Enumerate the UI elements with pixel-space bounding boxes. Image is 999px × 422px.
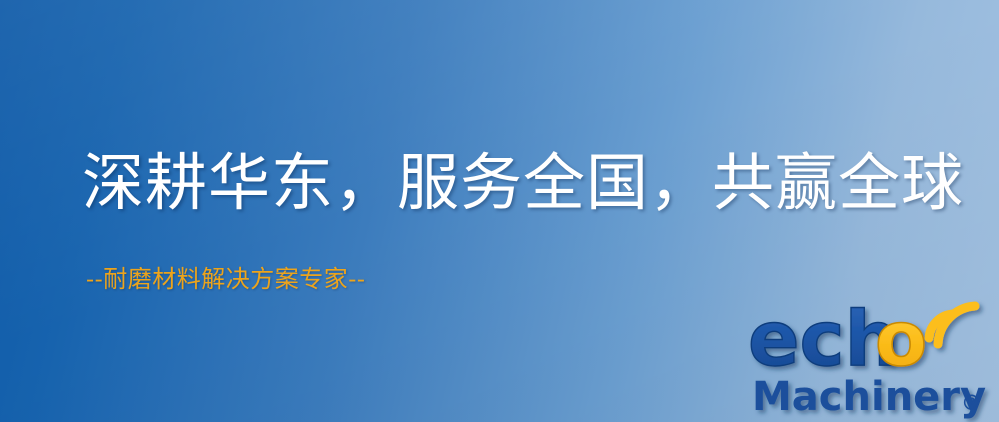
banner-subtitle: --耐磨材料解决方案专家-- — [86, 267, 365, 291]
signal-waves-icon — [929, 306, 975, 344]
echo-machinery-logo: ech o Machinery ® — [748, 297, 996, 419]
logo-tagline-group: Machinery ® — [752, 374, 986, 420]
registered-trademark-icon: ® — [961, 391, 982, 415]
logo-tagline-text: Machinery — [752, 374, 986, 420]
logo-o-text: o — [875, 294, 927, 383]
promo-banner: 深耕华东，服务全国，共赢全球 --耐磨材料解决方案专家-- — [0, 0, 999, 422]
logo-wordmark-o: o — [875, 294, 927, 383]
banner-headline: 深耕华东，服务全国，共赢全球 — [82, 152, 964, 214]
